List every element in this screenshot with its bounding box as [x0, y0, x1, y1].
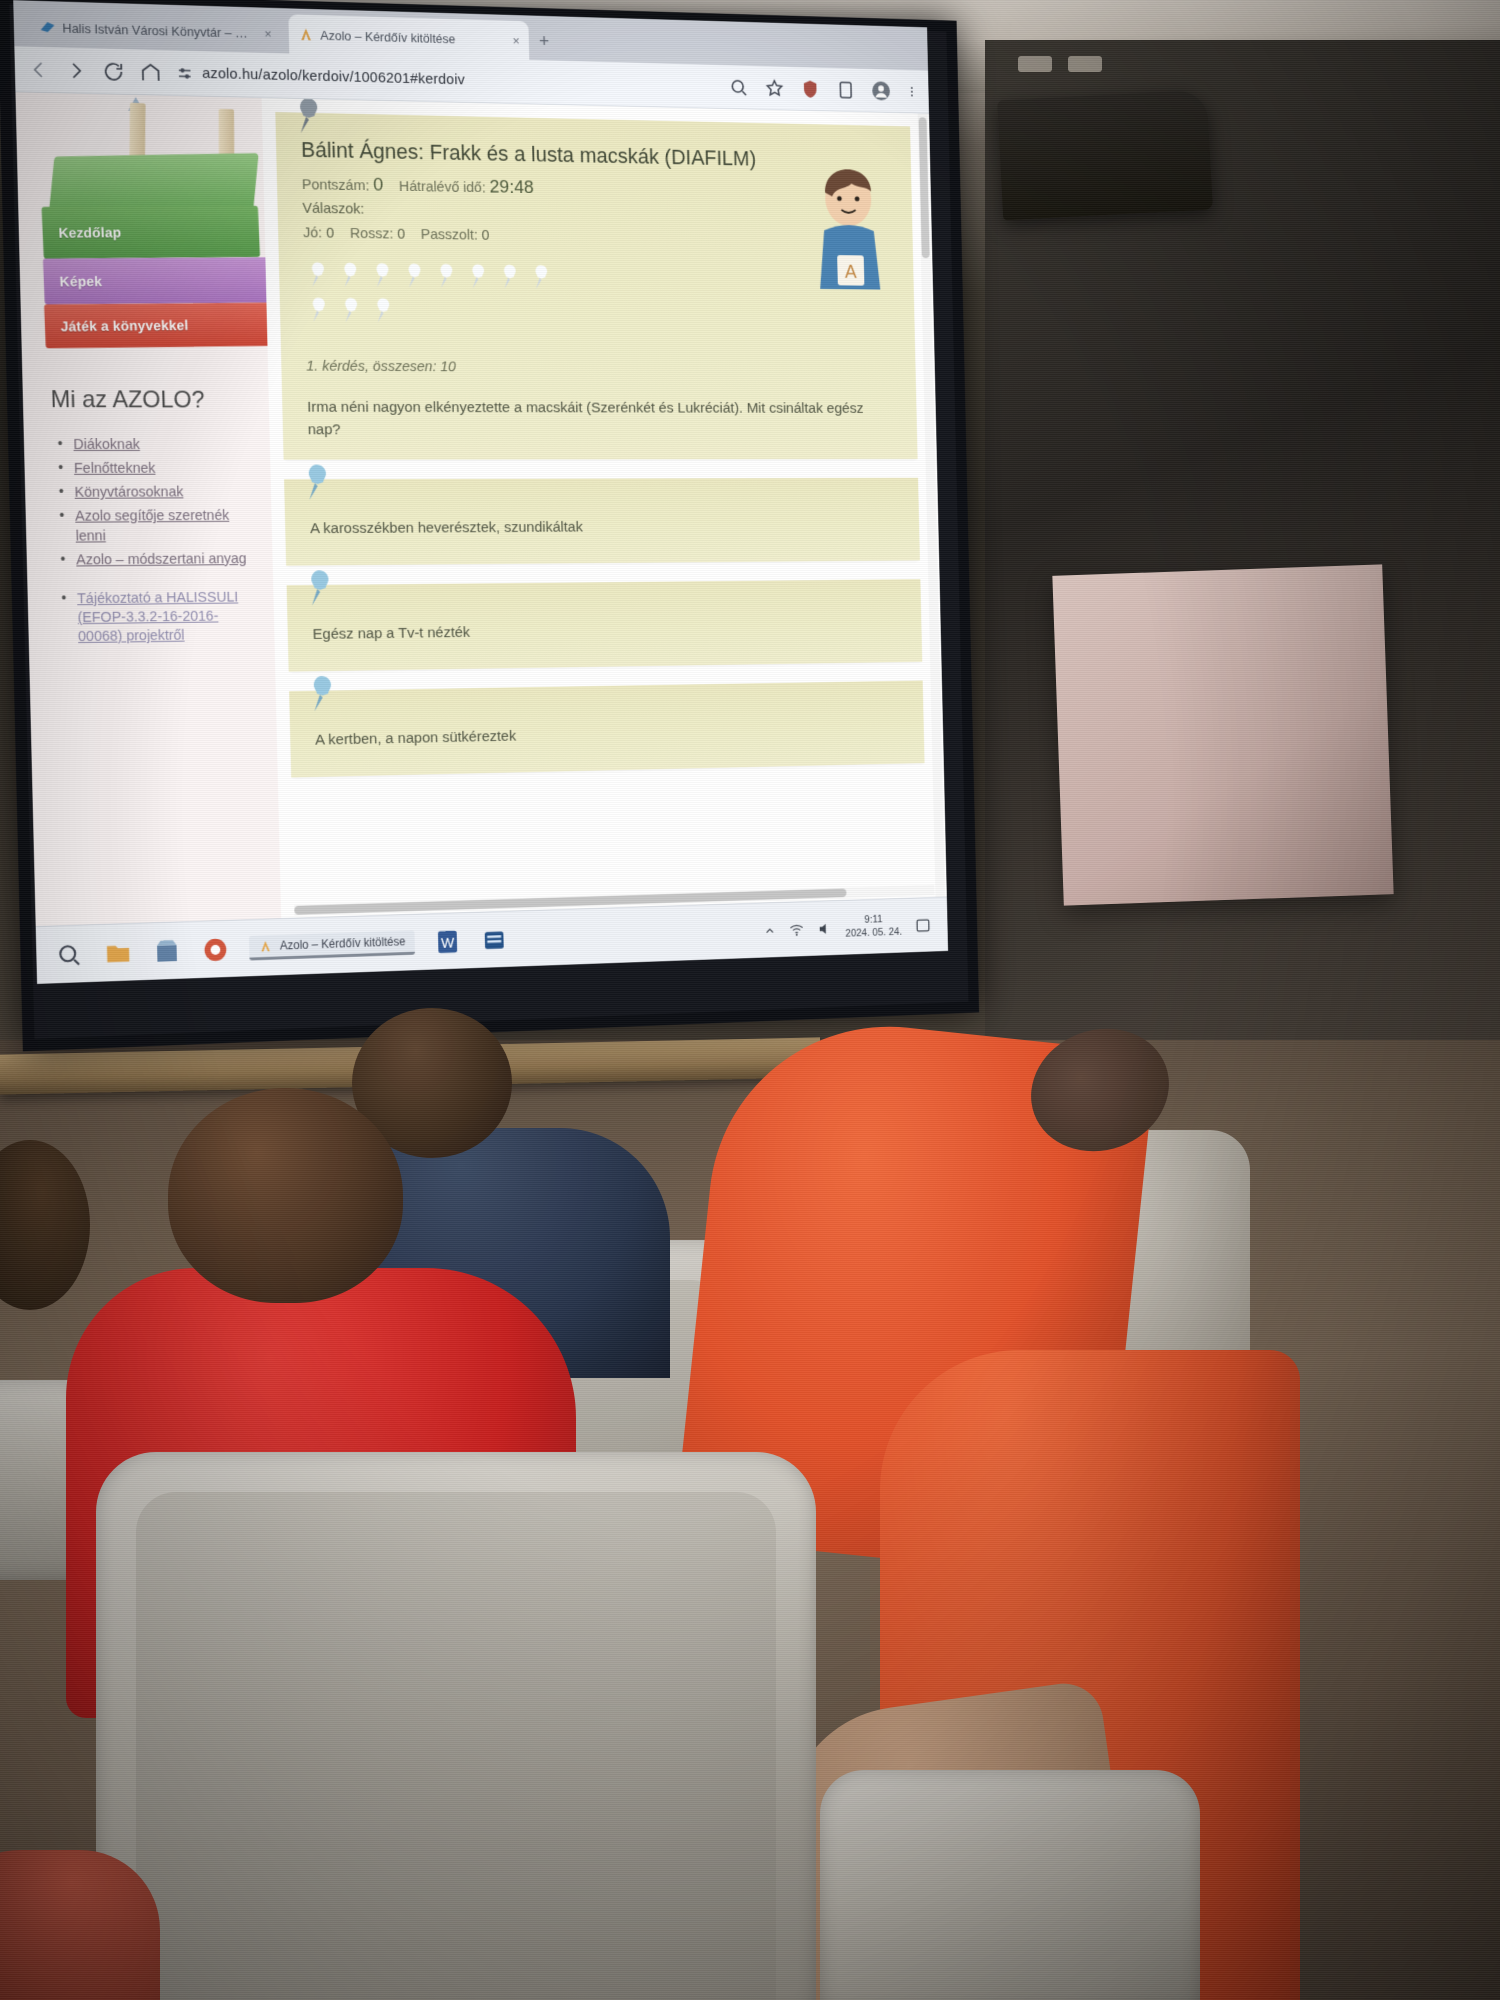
progress-pushpin-icon: [464, 262, 491, 291]
sidebar-item-halissuli[interactable]: Tájékoztató a HALISSULI (EFOP-3.3.2-16-2…: [59, 588, 259, 647]
progress-pushpin-icon: [336, 260, 363, 290]
time-label: Hátralévő idő:: [399, 178, 486, 196]
network-icon[interactable]: [788, 921, 804, 939]
projected-browser-window: Halis István Városi Könyvtár – … × Azolo…: [13, 0, 948, 984]
quiz-title: Bálint Ágnes: Frakk és a lusta macskák (…: [301, 138, 888, 173]
answer-option-label: A kertben, a napon sütkéreztek: [314, 701, 901, 749]
web-page: Kezdőlap Képek Játék a könyvekkel Mi az …: [15, 92, 946, 926]
progress-pushpin-icon: [496, 262, 523, 291]
sidebar-item-label: Könyvtárosoknak: [74, 485, 183, 501]
bad-label: Rossz:: [350, 225, 394, 242]
sidebar-item-label: Felnőtteknek: [74, 461, 156, 477]
svg-text:W: W: [441, 935, 455, 952]
forward-arrow-icon[interactable]: [64, 58, 88, 82]
chair-inner: [136, 1492, 776, 2000]
app-icon[interactable]: [480, 925, 509, 955]
volume-icon[interactable]: [817, 920, 833, 938]
page-settings-icon: [176, 64, 194, 82]
projection-screen: Halis István Városi Könyvtár – … × Azolo…: [0, 0, 979, 1051]
books-logo: Kezdőlap Képek Játék a könyvekkel: [25, 92, 269, 361]
progress-pushpin-icon: [400, 261, 427, 290]
browser-tab-azolo[interactable]: Azolo – Kérdőív kitöltése ×: [288, 14, 529, 60]
progress-pushpin-icon: [305, 295, 332, 325]
back-arrow-icon[interactable]: [27, 57, 51, 82]
ceiling-light-fixture: [997, 90, 1213, 221]
tab-title: Halis István Városi Könyvtár – …: [62, 20, 248, 40]
word-icon[interactable]: W: [433, 926, 462, 956]
question-meta: 1. kérdés, összesen: 10: [306, 358, 893, 377]
quiz-header-card: A Bálint Ágnes: Frakk és a lusta macskák…: [275, 112, 917, 459]
wall-pinboard: [1052, 564, 1393, 905]
nav-book-jatek[interactable]: Játék a könyvekkel: [44, 303, 279, 349]
sidebar-item-label: Azolo segítője szeretnék lenni: [75, 508, 229, 544]
quiz-main-column: A Bálint Ágnes: Frakk és a lusta macskák…: [262, 98, 947, 918]
profile-icon[interactable]: [870, 79, 892, 102]
shield-icon[interactable]: [799, 77, 821, 100]
quiz-stats: Pontszám: 0 Hátralévő idő: 29:48 Válaszo…: [302, 170, 890, 252]
child-1-head: [168, 1088, 403, 1303]
file-explorer-icon[interactable]: [103, 937, 133, 968]
good-value: 0: [326, 224, 334, 241]
score-value: 0: [373, 174, 383, 195]
answer-option-label: A karosszékben heverésztek, szundikáltak: [309, 498, 896, 538]
sidebar-item-segitoje[interactable]: Azolo segítője szeretnék lenni: [57, 507, 257, 546]
progress-pushpin-icon: [337, 295, 364, 325]
answer-option-1[interactable]: A karosszékben heverésztek, szundikáltak: [284, 477, 920, 565]
progress-pushpin-icon: [304, 260, 331, 290]
sidebar-item-modszertani[interactable]: Azolo – módszertani anyag: [58, 550, 257, 570]
answer-option-label: Egész nap a Tv-t nézték: [312, 600, 899, 644]
sidebar-item-label: Tájékoztató a HALISSULI (EFOP-3.3.2-16-2…: [77, 589, 238, 645]
sidebar-heading: Mi az AZOLO?: [50, 386, 253, 414]
url-text: azolo.hu/azolo/kerdoiv/1006201#kerdoiv: [202, 65, 465, 88]
azolo-icon: [298, 26, 314, 42]
score-label: Pontszám:: [302, 176, 370, 194]
browser-icon[interactable]: [201, 934, 231, 965]
time-value: 29:48: [489, 177, 534, 198]
azolo-icon: [259, 939, 273, 953]
pushpin-icon: [297, 461, 336, 502]
sidebar-link-list: Diákoknak Felnőtteknek Könyvtárosoknak A…: [55, 436, 259, 647]
collections-icon[interactable]: [835, 78, 857, 101]
sidebar-item-felnotteknek[interactable]: Felnőtteknek: [56, 460, 255, 479]
home-icon[interactable]: [139, 60, 163, 84]
progress-pushpin-icon: [368, 261, 395, 291]
svg-text:A: A: [845, 262, 858, 283]
progress-pushpin-icon: [432, 261, 459, 290]
bad-value: 0: [397, 225, 405, 242]
taskbar-window-title: Azolo – Kérdőív kitöltése: [280, 935, 406, 953]
passed-value: 0: [481, 227, 489, 244]
show-hidden-icons[interactable]: [763, 923, 776, 937]
nav-book-kepek[interactable]: Képek: [43, 257, 271, 304]
sidebar-item-label: Diákoknak: [73, 437, 140, 453]
passed-label: Passzolt:: [421, 226, 478, 243]
sidebar-item-konyvtarosoknak[interactable]: Könyvtárosoknak: [57, 484, 256, 504]
progress-pushpin-icon: [528, 263, 555, 292]
pushpin-icon: [302, 672, 341, 714]
lamp-tube-left: [1018, 56, 1052, 72]
chair-front: [96, 1452, 816, 2000]
taskbar-clock[interactable]: 9:11 2024. 05. 24.: [845, 913, 902, 941]
store-icon[interactable]: [152, 936, 182, 967]
site-sidebar: Kezdőlap Képek Játék a könyvekkel Mi az …: [15, 92, 281, 926]
system-tray: 9:11 2024. 05. 24.: [763, 912, 932, 944]
answer-option-3[interactable]: A kertben, a napon sütkéreztek: [289, 680, 924, 777]
lamp-tube-right: [1068, 56, 1102, 72]
clock-date: 2024. 05. 24.: [845, 926, 902, 941]
pushpin-icon: [300, 567, 339, 608]
address-bar[interactable]: azolo.hu/azolo/kerdoiv/1006201#kerdoiv: [176, 59, 716, 100]
taskbar-window-azolo[interactable]: Azolo – Kérdőív kitöltése: [249, 930, 415, 960]
search-icon[interactable]: [54, 939, 84, 970]
reload-icon[interactable]: [101, 59, 125, 83]
sidebar-item-label: Azolo – módszertani anyag: [76, 551, 247, 568]
library-icon: [39, 19, 55, 35]
good-label: Jó:: [303, 224, 322, 241]
new-tab-button[interactable]: +: [539, 31, 550, 53]
child-4-shoulder: [0, 1850, 160, 2000]
star-icon[interactable]: [764, 76, 786, 99]
browser-tab-library[interactable]: Halis István Városi Könyvtár – … ×: [29, 7, 281, 54]
question-text: Irma néni nagyon elkényeztette a macskái…: [307, 396, 894, 442]
more-menu-icon[interactable]: [905, 80, 918, 103]
chair-right: [820, 1770, 1200, 2000]
sidebar-item-diakoknak[interactable]: Diákoknak: [55, 436, 254, 455]
answer-option-2[interactable]: Egész nap a Tv-t nézték: [287, 579, 923, 671]
tab-title: Azolo – Kérdőív kitöltése: [320, 27, 455, 45]
nav-book-kezdolap[interactable]: Kezdőlap: [42, 206, 261, 259]
toolbar-right-icons: [728, 75, 919, 102]
notifications-icon[interactable]: [914, 915, 932, 934]
pushpin-icon: [288, 98, 327, 137]
tab-close-icon[interactable]: ×: [264, 26, 272, 41]
search-icon[interactable]: [728, 75, 750, 98]
azolo-boy-mascot: A: [808, 164, 889, 293]
progress-pushpin-icon: [369, 296, 396, 325]
tab-close-icon[interactable]: ×: [512, 33, 519, 48]
question-progress-pins: [304, 260, 577, 327]
